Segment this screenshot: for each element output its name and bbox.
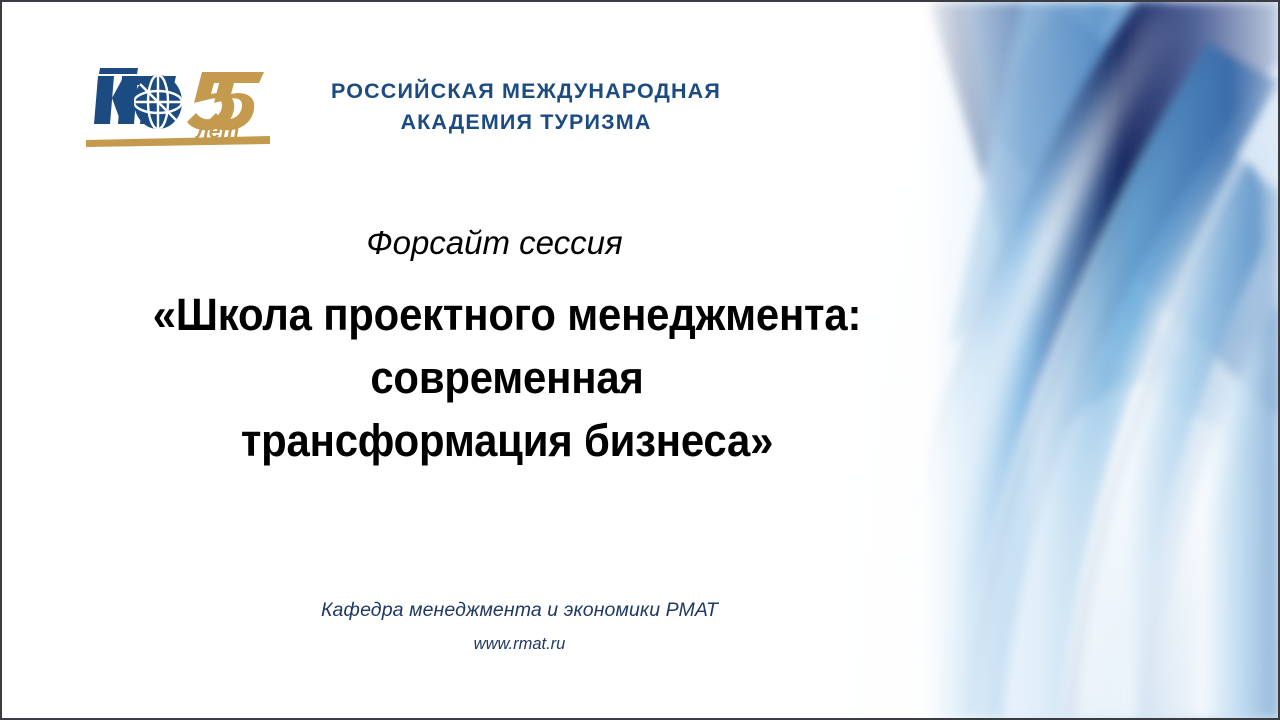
rmat-ito-55-let-logo: лет [84,58,274,152]
slide-footer: Кафедра менеджмента и экономики РМАТ www… [2,596,1037,659]
presentation-slide: лет РОССИЙСКАЯ МЕЖДУНАРОДНАЯ АКАДЕМИЯ ТУ… [0,0,1280,720]
academy-name: РОССИЙСКАЯ МЕЖДУНАРОДНАЯ АКАДЕМИЯ ТУРИЗМ… [306,76,746,138]
slide-title-line2: современная [37,346,976,409]
academy-name-line2: АКАДЕМИЯ ТУРИЗМА [306,107,746,138]
slide-title-line1: «Школа проектного менеджмента: [37,283,976,346]
slide-title-line3: трансформация бизнеса» [37,409,976,472]
department-name: Кафедра менеджмента и экономики РМАТ [2,596,1037,624]
slide-title: «Школа проектного менеджмента: современн… [37,283,976,472]
session-type-label: Форсайт сессия [2,223,987,263]
website-url: www.rmat.ru [2,624,1037,659]
academy-name-line1: РОССИЙСКАЯ МЕЖДУНАРОДНАЯ [306,76,746,107]
brand-header: лет РОССИЙСКАЯ МЕЖДУНАРОДНАЯ АКАДЕМИЯ ТУ… [84,58,744,154]
